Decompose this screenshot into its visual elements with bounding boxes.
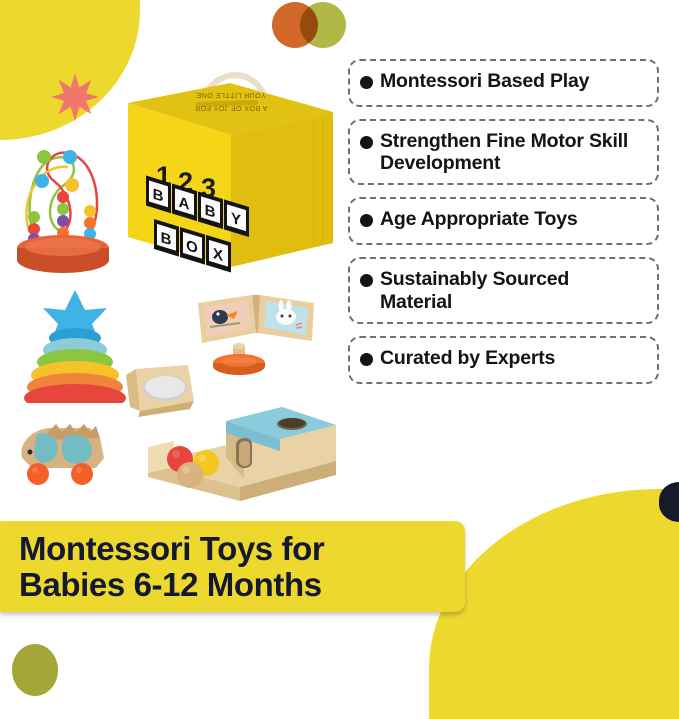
svg-text:A: A	[179, 194, 190, 214]
bullet-icon	[360, 76, 373, 89]
feature-label: Curated by Experts	[380, 347, 555, 369]
corner-shape-bottom-right	[429, 489, 679, 719]
svg-text:YOUR LITTLE ONE: YOUR LITTLE ONE	[196, 91, 266, 98]
feature-item-montessori-based-play: Montessori Based Play	[348, 59, 659, 107]
svg-text:A BOX OF JOY FOR: A BOX OF JOY FOR	[195, 104, 268, 111]
title-line-1: Montessori Toys for	[19, 531, 324, 567]
svg-text:B: B	[205, 202, 216, 222]
svg-text:Y: Y	[231, 210, 241, 230]
product-photo: YOUR LITTLE ONE A BOX OF JOY FOR 1 2 3 B…	[0, 0, 348, 515]
hedgehog-roller-toy-image	[12, 418, 112, 490]
feature-item-age-appropriate-toys: Age Appropriate Toys	[348, 197, 659, 245]
svg-text:X: X	[213, 245, 224, 265]
dot-olive-bottom-icon	[12, 644, 58, 696]
svg-text:B: B	[153, 186, 164, 206]
title-banner: Montessori Toys for Babies 6-12 Months	[0, 521, 465, 612]
svg-text:B: B	[161, 229, 172, 249]
bullet-icon	[360, 274, 373, 287]
spinning-top-toy-image	[211, 343, 267, 375]
baby-box-product-image: YOUR LITTLE ONE A BOX OF JOY FOR 1 2 3 B…	[118, 55, 343, 280]
bullet-icon	[360, 353, 373, 366]
feature-item-curated-by-experts: Curated by Experts	[348, 336, 659, 384]
stacking-rings-toy-image	[23, 288, 127, 403]
feature-item-fine-motor-skill: Strengthen Fine Motor Skill Development	[348, 119, 659, 185]
feature-label: Sustainably Sourced Material	[380, 268, 645, 312]
bullet-icon	[360, 136, 373, 149]
object-permanence-box-toy-image	[140, 385, 340, 505]
feature-label: Age Appropriate Toys	[380, 208, 578, 230]
page-title: Montessori Toys for Babies 6-12 Months	[0, 531, 324, 602]
title-line-2: Babies 6-12 Months	[19, 567, 324, 603]
feature-label: Montessori Based Play	[380, 70, 589, 92]
half-circle-navy-icon	[659, 482, 679, 522]
feature-label: Strengthen Fine Motor Skill Development	[380, 130, 645, 174]
feature-list: Montessori Based Play Strengthen Fine Mo…	[348, 59, 659, 396]
bead-maze-toy-image	[8, 133, 118, 278]
bullet-icon	[360, 214, 373, 227]
feature-item-sustainably-sourced: Sustainably Sourced Material	[348, 257, 659, 323]
